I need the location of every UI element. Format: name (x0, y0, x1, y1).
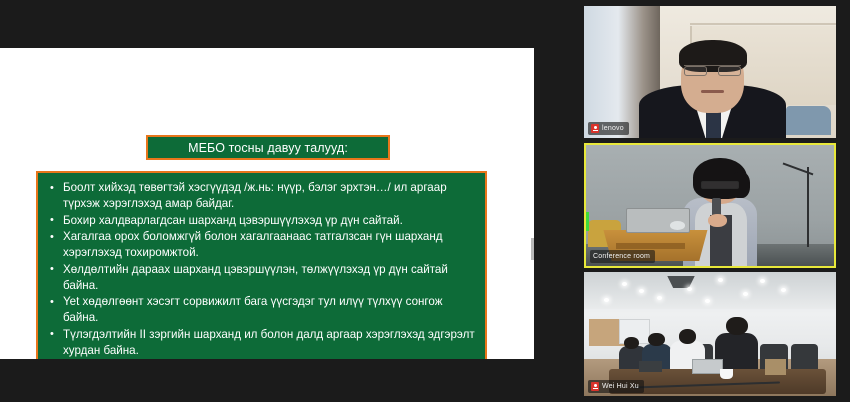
ceiling-light-icon (781, 288, 786, 292)
scrollbar-thumb[interactable] (531, 238, 534, 260)
person-mouth (701, 90, 724, 93)
list-item: Боолт хийхэд төвөгтэй хэсгүүдэд /ж.нь: н… (46, 180, 475, 212)
participant-name-label-2: Conference room (590, 250, 655, 263)
microphone-muted-icon (591, 382, 599, 391)
ceiling-light-icon (743, 292, 748, 296)
glasses-lens-left (684, 66, 707, 76)
participant-name-text: lenovo (602, 125, 624, 132)
list-item: Хагалгаа орох боломжгүй болон хагалгаана… (46, 229, 475, 261)
video-feed-3 (584, 272, 836, 396)
ceiling-light-icon (718, 278, 723, 282)
person-head (679, 329, 697, 344)
slide-title-plaque: МЕБО тосны давуу талууд: (146, 135, 390, 160)
person-head (624, 337, 639, 349)
person-head (648, 333, 664, 347)
glasses-lens-right (718, 66, 741, 76)
chair-decor (786, 106, 831, 135)
podium-plaque-decor (616, 243, 685, 249)
laptop-decor (692, 359, 722, 374)
person-head (726, 317, 747, 336)
ceiling-light-icon (622, 282, 627, 286)
slide-bullet-list: Боолт хийхэд төвөгтэй хэсгүүдэд /ж.нь: н… (46, 180, 475, 359)
participant-name-text: Wei Hui Xu (602, 383, 639, 390)
chair-decor (791, 344, 819, 371)
page-title: МЕБО тосны давуу талууд: (188, 141, 348, 155)
cup-decor (720, 369, 733, 379)
video-tile-participant-3[interactable]: Wei Hui Xu (584, 272, 836, 396)
mic-stand-decor (807, 167, 809, 247)
participant-video-strip: lenovo (570, 0, 850, 402)
video-feed-2 (586, 145, 834, 266)
box-decor (765, 359, 785, 375)
ceiling-decor (584, 272, 836, 309)
audio-level-indicator (586, 212, 589, 231)
list-item: Yet хөдөлгөөнт хэсэгт сорвижилт бага үүс… (46, 294, 475, 326)
meeting-window: МЕБО тосны давуу талууд: Боолт хийхэд тө… (0, 0, 850, 402)
list-item: Бохир халдварлагдсан шарханд цэвэршүүлэх… (46, 213, 475, 229)
slide-body-plaque: Боолт хийхэд төвөгтэй хэсгүүдэд /ж.нь: н… (36, 171, 487, 359)
participant-name-text: Conference room (593, 253, 650, 260)
microphone-muted-icon (591, 124, 599, 133)
video-tile-conference-room[interactable]: Conference room (584, 143, 836, 268)
laptop-sticker-decor (670, 221, 685, 229)
wall-seam-decor (690, 23, 836, 25)
glasses-icon (684, 65, 742, 76)
video-feed-1 (584, 6, 836, 138)
list-item: Хөлдөлтийн дараах шарханд цэвэршүүлэн, т… (46, 262, 475, 294)
person-tie (706, 112, 721, 138)
participant-name-label-1: lenovo (588, 122, 629, 135)
list-item: Түлэгдэлтийн II зэргийн шарханд ил болон… (46, 327, 475, 359)
shared-screen-region[interactable]: МЕБО тосны давуу талууд: Боолт хийхэд тө… (0, 0, 570, 402)
video-tile-participant-1[interactable]: lenovo (584, 6, 836, 138)
participant-name-label-3: Wei Hui Xu (588, 380, 644, 393)
ceiling-light-icon (657, 296, 662, 300)
presentation-slide[interactable]: МЕБО тосны давуу талууд: Боолт хийхэд тө… (0, 48, 534, 359)
laptop-decor (639, 361, 662, 372)
glasses-icon (701, 181, 738, 188)
